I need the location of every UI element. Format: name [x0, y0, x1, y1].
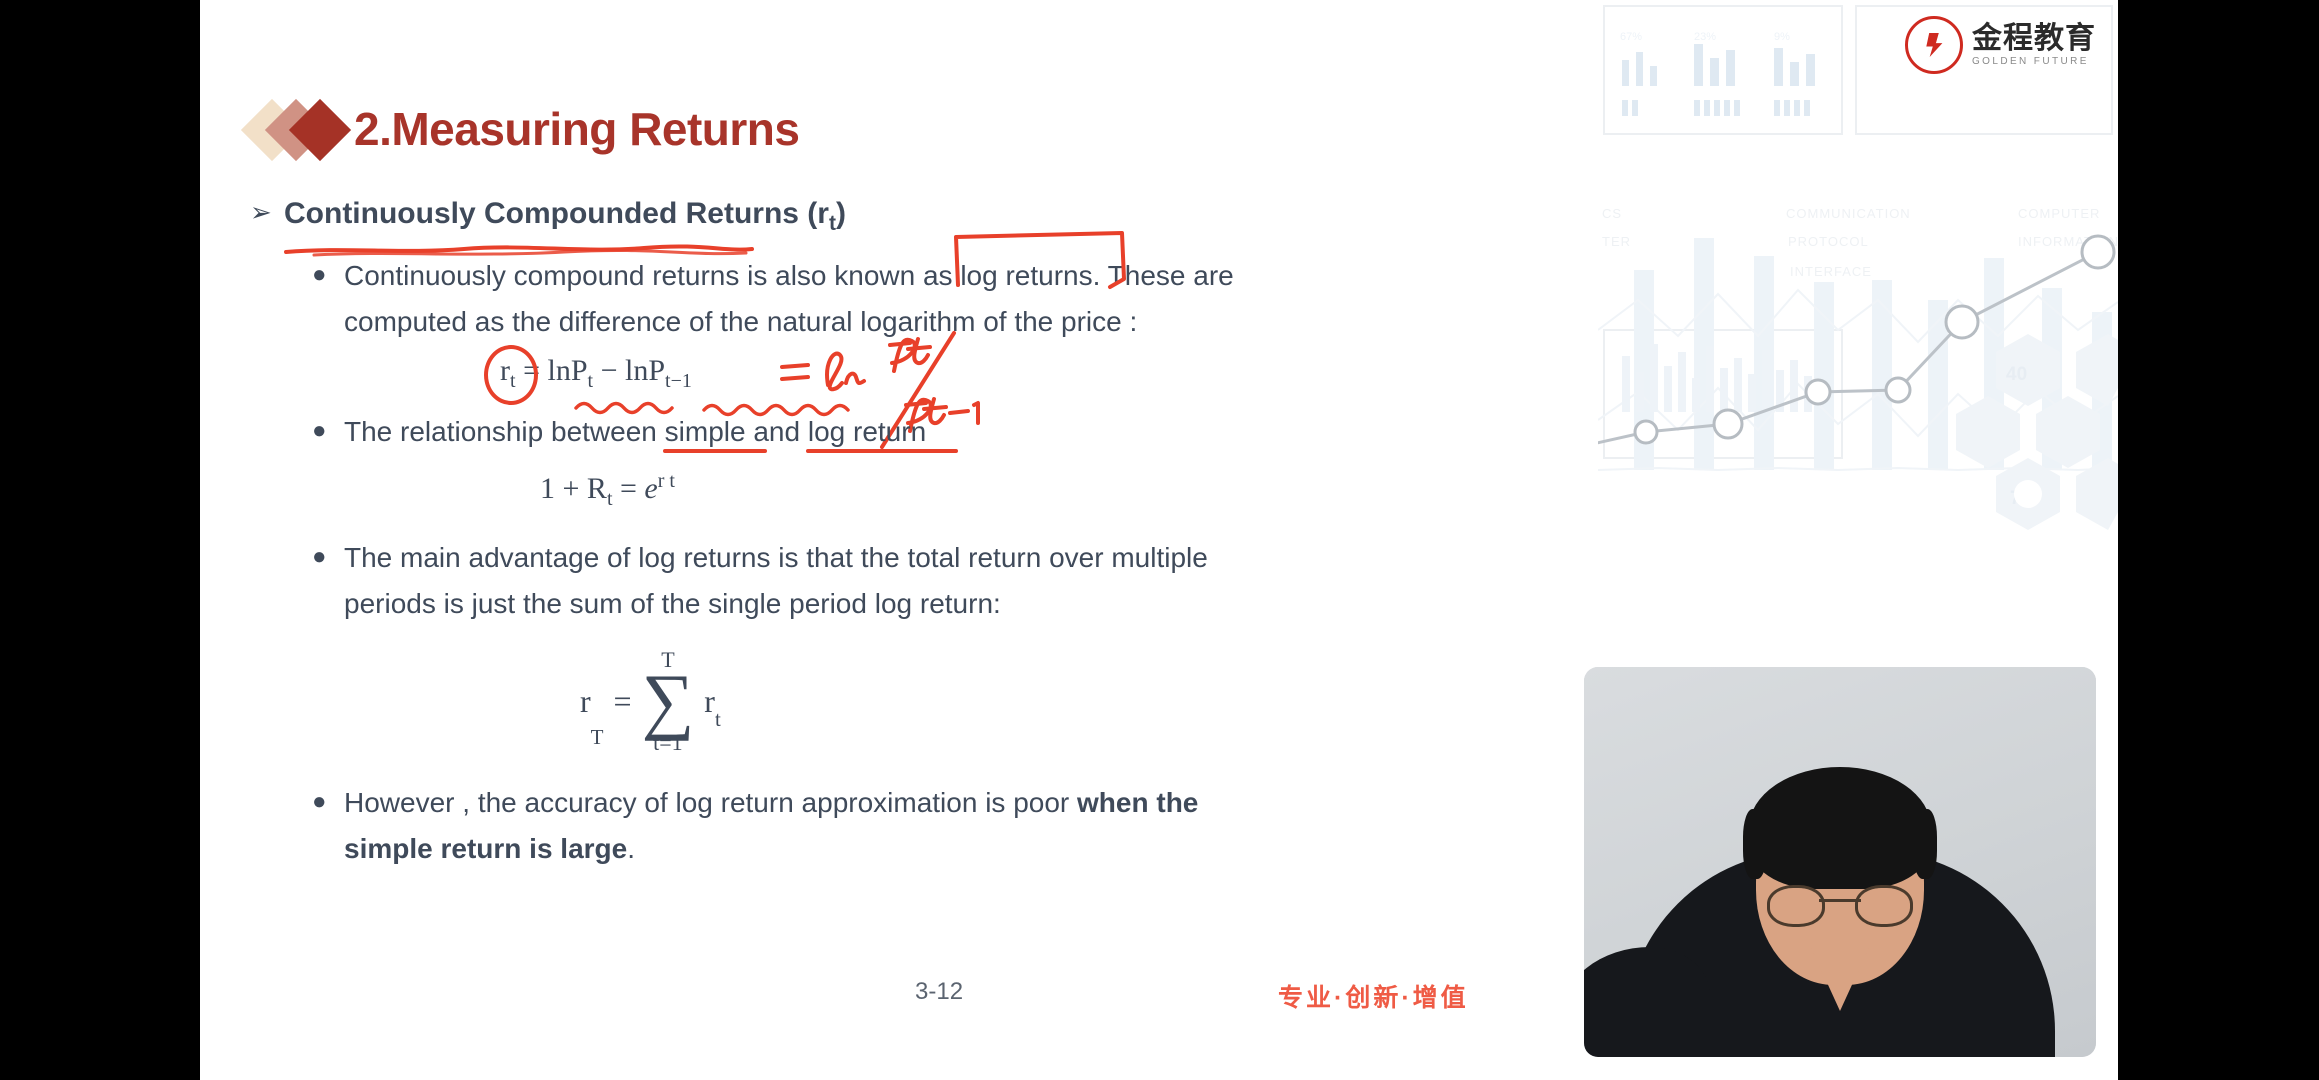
svg-text:PROTOCOL: PROTOCOL	[1788, 234, 1869, 249]
logo-emblem-icon	[1905, 16, 1963, 74]
bullet-dot-icon: ●	[312, 535, 344, 579]
brand-slogan: 专业·创新·增值	[1278, 978, 1469, 1014]
bullet2-underline-1: simple	[665, 416, 746, 447]
glasses-icon	[1767, 885, 1913, 921]
webcam-hair	[1749, 767, 1931, 889]
formula2-exponent: r t	[658, 470, 675, 492]
bullet3-line2: periods is just the sum of the single pe…	[344, 588, 1001, 619]
formula3-eq: =	[603, 683, 641, 720]
svg-text:INTERFACE: INTERFACE	[1790, 264, 1872, 279]
formula2-text: 1 + R	[540, 472, 607, 505]
svg-text:COMPUTER: COMPUTER	[2018, 206, 2100, 221]
background-artwork: 67%23%9% CS TER COMMUNICATION PROTOCOL I…	[1598, 0, 2118, 650]
formula3-rhs: r	[694, 683, 715, 720]
formula-simple-vs-log: 1 + Rt = er t	[540, 459, 1530, 521]
background-art-svg: 67%23%9% CS TER COMMUNICATION PROTOCOL I…	[1598, 0, 2118, 650]
bullet4-line2-tail: .	[627, 833, 635, 864]
logo-chinese-name: 金程教育	[1972, 24, 2096, 54]
arrow-bullet-icon: ➢	[250, 195, 284, 229]
slide-title-row: 2.Measuring Returns	[250, 96, 800, 162]
bullet4-bold-a: when the	[1077, 787, 1198, 818]
brand-logo: 金程教育 GOLDEN FUTURE	[1905, 16, 2096, 74]
underlined-simple-wrapper: simple	[665, 409, 746, 455]
heading-continuously-compounded-returns: ➢ Continuously Compounded Returns (rt)	[250, 195, 1530, 243]
bullet-main-advantage: ● The main advantage of log returns is t…	[312, 535, 1530, 627]
pen-circle-rt	[484, 345, 538, 405]
pen-underline-simple	[663, 449, 767, 453]
bullet-accuracy-poor: ● However , the accuracy of log return a…	[312, 780, 1530, 872]
formula3-lower-limit: t=1	[653, 732, 683, 754]
pen-underline-log-return	[806, 449, 958, 453]
svg-text:9%: 9%	[1774, 31, 1790, 43]
svg-text:67%: 67%	[1620, 31, 1642, 43]
svg-text:23%: 23%	[1694, 31, 1716, 43]
bullet-relationship-simple-log: ● The relationship between simple and lo…	[312, 409, 1530, 455]
letterbox-right	[2118, 0, 2319, 1080]
logo-english-name: GOLDEN FUTURE	[1972, 57, 2096, 67]
svg-text:COMMUNICATION: COMMUNICATION	[1786, 206, 1911, 221]
slide-body: ➢ Continuously Compounded Returns (rt) ●	[250, 195, 1530, 876]
boxed-term-wrapper: log returns	[960, 253, 1092, 299]
formula3-lhs: r	[580, 683, 591, 720]
bullet-dot-icon: ●	[312, 780, 344, 824]
bullet2-underline-2: log return	[808, 416, 926, 447]
formula-sum-log-returns: rT = T ∑ t=1 rt	[580, 649, 1530, 754]
page-title: 2.Measuring Returns	[354, 102, 800, 156]
presentation-slide: 67%23%9% CS TER COMMUNICATION PROTOCOL I…	[200, 0, 2118, 1080]
svg-text:CS: CS	[1602, 206, 1622, 221]
bullet-dot-icon: ●	[312, 409, 344, 453]
screen: 67%23%9% CS TER COMMUNICATION PROTOCOL I…	[0, 0, 2319, 1080]
underlined-logreturn-wrapper: log return	[808, 409, 926, 455]
svg-text:40: 40	[2006, 364, 2027, 385]
formula3-lhs-sub: T	[591, 725, 604, 754]
bullet4-line2-bold: simple return is large	[344, 833, 627, 864]
letterbox-left	[0, 0, 200, 1080]
formula3-sigma-icon: ∑	[642, 671, 695, 732]
page-number: 3-12	[915, 978, 963, 1006]
formula3-rhs-sub: t	[715, 707, 721, 754]
formula-log-return: rt = lnPt − lnPt−1	[500, 349, 1530, 415]
instructor-webcam-video[interactable]: instructor-video	[1584, 667, 2096, 1057]
diamond-bullet-icon	[250, 96, 354, 162]
webcam-arm	[1584, 947, 1710, 1057]
formula1-minus: − lnP	[593, 354, 665, 387]
heading-subscript: t	[829, 212, 836, 235]
pen-box-log-returns	[950, 227, 1130, 309]
bullet3-line1: The main advantage of log returns is tha…	[344, 542, 1208, 573]
heading-label: Continuously Compounded Returns (r	[284, 197, 829, 230]
pen-underline-heading	[284, 231, 754, 269]
bullet4-text-a: However , the accuracy of log return app…	[344, 787, 1077, 818]
heading-tail: )	[836, 197, 846, 230]
formula2-eq: =	[613, 472, 645, 505]
svg-text:TER: TER	[1602, 234, 1631, 249]
formula2-e: e	[644, 472, 657, 505]
